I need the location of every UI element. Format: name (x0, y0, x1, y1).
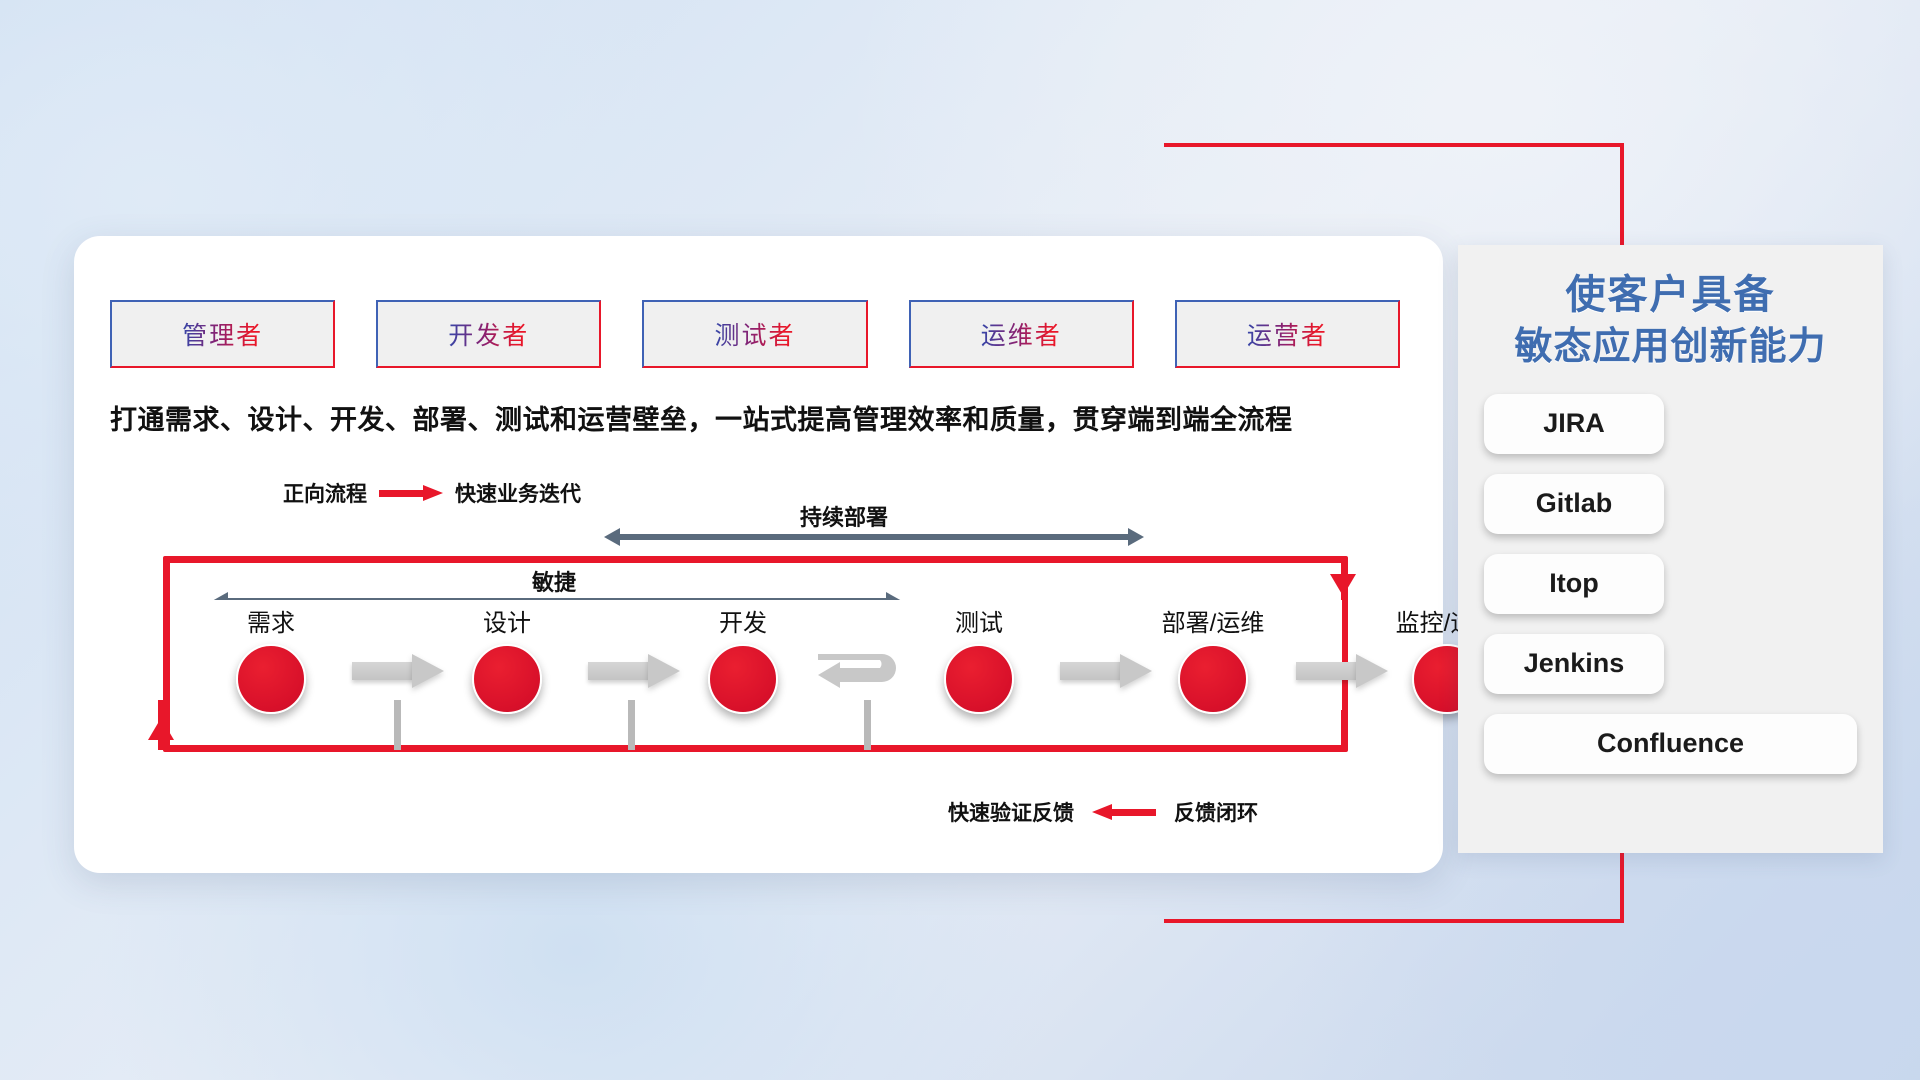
stage-dot-icon (1178, 644, 1248, 714)
arrow-right-red-icon (379, 485, 443, 501)
arrow-shaft (618, 534, 1130, 540)
tool-chip-jira[interactable]: JIRA (1484, 394, 1664, 454)
arrow-shaft (352, 662, 414, 680)
stage-testing[interactable]: 测试 (904, 612, 1054, 714)
stage-dot-icon (472, 644, 542, 714)
stage-dot-icon (236, 644, 306, 714)
stage-deploy-ops[interactable]: 部署/运维 (1138, 612, 1288, 714)
arrow-head-right-icon (1128, 528, 1144, 546)
value-proposition-panel: 使客户具备 敏态应用创新能力 JIRA Gitlab Itop Jenkins … (1458, 245, 1883, 853)
panel-title-line2: 敏态应用创新能力 (1458, 322, 1883, 372)
headline-text: 打通需求、设计、开发、部署、测试和运营壁垒，一站式提高管理效率和质量，贯穿端到端… (110, 398, 1410, 437)
stage-label: 开发 (668, 612, 818, 636)
tool-chip-itop[interactable]: Itop (1484, 554, 1664, 614)
role-box-ops[interactable]: 运维者 (909, 300, 1134, 368)
stage-dot-icon (708, 644, 778, 714)
tool-chip-gitlab[interactable]: Gitlab (1484, 474, 1664, 534)
legend-forward-flow: 正向流程 快速业务迭代 (283, 478, 581, 508)
arrow-requirement-to-design-icon (352, 654, 444, 688)
pipeline-row: 需求 设计 开发 测试 (110, 612, 1430, 732)
stage-label: 需求 (196, 612, 346, 636)
stage-label: 设计 (432, 612, 582, 636)
stage-development[interactable]: 开发 (668, 612, 818, 714)
arrow-design-to-development-icon (588, 654, 680, 688)
role-label: 运营者 (1247, 316, 1328, 352)
arrow-left-red-icon (1092, 804, 1156, 820)
arrow-shaft (1296, 662, 1358, 680)
tool-chip-jenkins[interactable]: Jenkins (1484, 634, 1664, 694)
tool-chip-confluence[interactable]: Confluence (1484, 714, 1857, 774)
role-box-row: 管理者 开发者 测试者 运维者 运营者 (110, 300, 1400, 368)
legend-forward-left-label: 正向流程 (283, 478, 367, 508)
stage-label: 部署/运维 (1138, 612, 1288, 636)
stage-label: 测试 (904, 612, 1054, 636)
stage-requirement[interactable]: 需求 (196, 612, 346, 714)
role-box-developer[interactable]: 开发者 (376, 300, 601, 368)
diagram-canvas: 管理者 开发者 测试者 运维者 运营者 打通需求、设计、开发、部署、测试和运营壁… (0, 0, 1920, 1080)
role-box-tester[interactable]: 测试者 (642, 300, 867, 368)
arrow-shaft (1060, 662, 1122, 680)
legend-feedback-left-label: 快速验证反馈 (948, 797, 1074, 827)
panel-title: 使客户具备 敏态应用创新能力 (1458, 245, 1883, 372)
loop-arrow-down-icon (1330, 574, 1356, 596)
role-box-operations[interactable]: 运营者 (1175, 300, 1400, 368)
stage-dot-icon (944, 644, 1014, 714)
tool-chip-list: JIRA Gitlab Itop Jenkins Confluence (1458, 372, 1883, 774)
role-label: 测试者 (715, 316, 796, 352)
legend-feedback-right-label: 反馈闭环 (1174, 797, 1258, 827)
arrow-shaft (588, 662, 650, 680)
legend-feedback-loop: 快速验证反馈 反馈闭环 (948, 797, 1258, 827)
role-label: 开发者 (448, 316, 529, 352)
legend-forward-right-label: 快速业务迭代 (455, 478, 581, 508)
stage-design[interactable]: 设计 (432, 612, 582, 714)
measure-arrow-continuous-deployment (604, 528, 1144, 546)
role-box-manager[interactable]: 管理者 (110, 300, 335, 368)
panel-title-line1: 使客户具备 (1458, 269, 1883, 322)
role-label: 管理者 (182, 316, 263, 352)
role-label: 运维者 (981, 316, 1062, 352)
